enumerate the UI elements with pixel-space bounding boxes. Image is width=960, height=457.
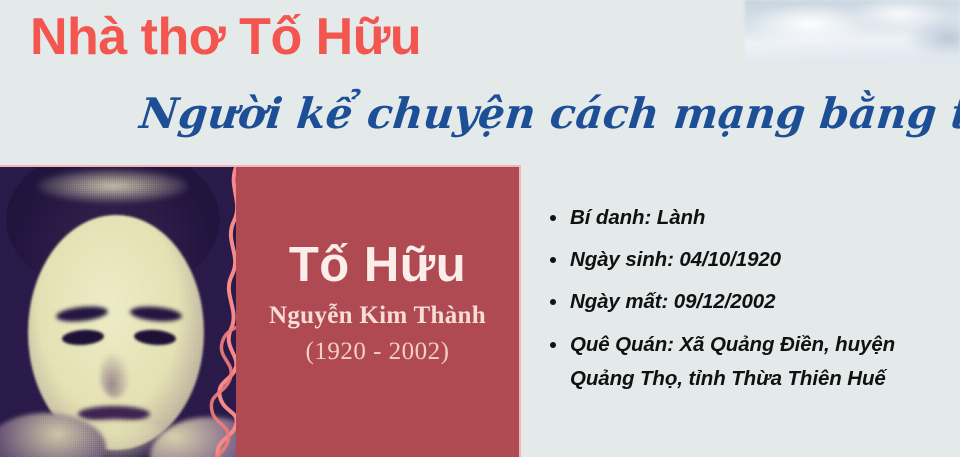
to-huu-portrait-photo — [0, 167, 236, 457]
page-title: Nhà thơ Tố Hữu — [30, 8, 421, 66]
bullet-dot-icon — [550, 215, 556, 221]
fact-text: Ngày mất: 09/12/2002 — [570, 290, 775, 313]
fact-text: Quê Quán: Xã Quảng Điền, huyện — [570, 333, 895, 356]
portrait-film-grain — [0, 167, 236, 457]
card-name: Tố Hữu — [289, 240, 466, 291]
fact-text: Bí danh: Lành — [570, 206, 705, 229]
portrait-card-info-panel: Tố Hữu Nguyễn Kim Thành (1920 - 2002) — [236, 167, 519, 457]
bullet-dot-icon — [550, 299, 556, 305]
fact-text: Ngày sinh: 04/10/1920 — [570, 248, 781, 271]
card-life-years: (1920 - 2002) — [306, 338, 450, 366]
list-item: Bí danh: Lành — [548, 205, 948, 231]
list-item: Quê Quán: Xã Quảng Điền, huyện Quảng Thọ… — [548, 332, 948, 392]
page-subtitle: Người kể chuyện cách mạng bằng thơ — [137, 90, 960, 138]
portrait-card: Tố Hữu Nguyễn Kim Thành (1920 - 2002) — [0, 165, 521, 457]
list-item: Ngày sinh: 04/10/1920 — [548, 247, 948, 273]
bullet-dot-icon — [550, 257, 556, 263]
card-real-name: Nguyễn Kim Thành — [269, 302, 486, 330]
fact-text-continued: Quảng Thọ, tỉnh Thừa Thiên Huế — [570, 366, 948, 392]
list-item: Ngày mất: 09/12/2002 — [548, 289, 948, 315]
bullet-dot-icon — [550, 342, 556, 348]
sky-photo — [745, 0, 960, 63]
facts-list: Bí danh: Lành Ngày sinh: 04/10/1920 Ngày… — [548, 205, 948, 392]
